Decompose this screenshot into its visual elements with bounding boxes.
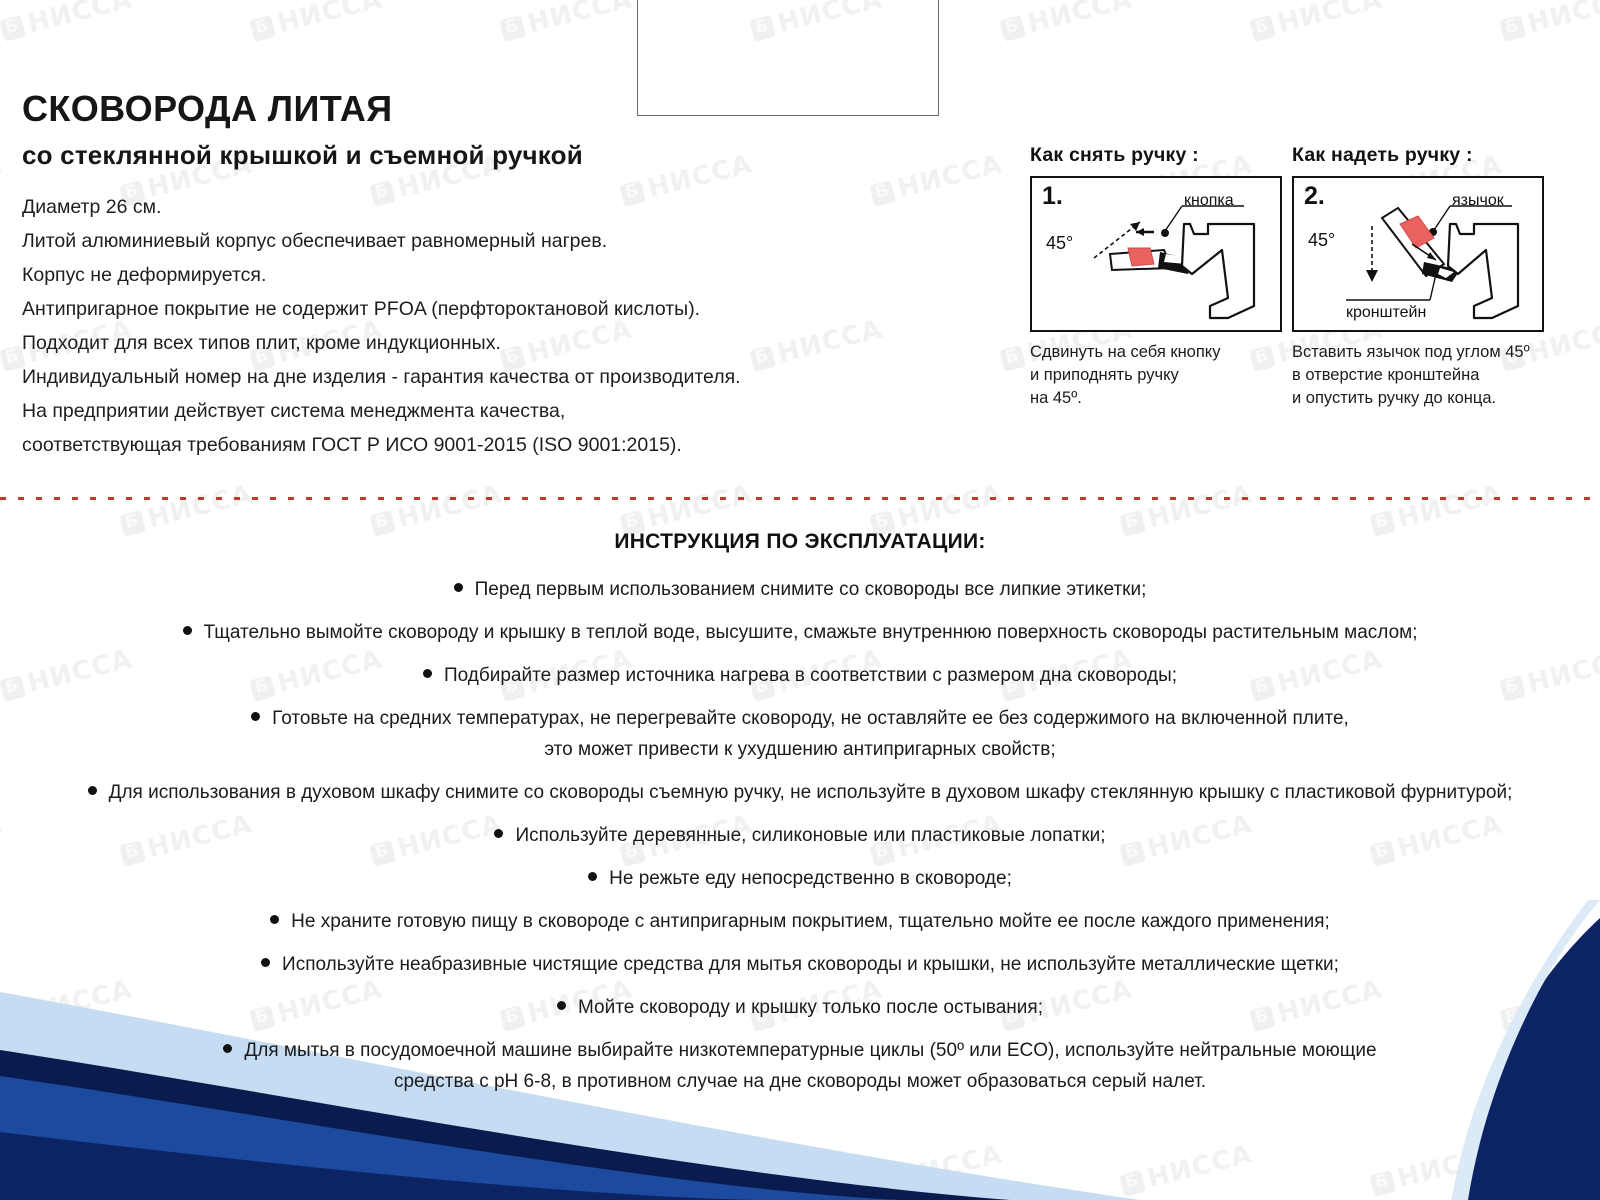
bullet-icon — [88, 786, 97, 795]
howto-remove-diagram: 1. 45° кнопка — [1030, 176, 1282, 332]
feature-line: Антипригарное покрытие не содержит PFOA … — [22, 292, 1002, 326]
instruction-text: Перед первым использованием снимите со с… — [475, 579, 1147, 600]
caption-line: на 45º. — [1030, 387, 1278, 410]
bullet-icon — [494, 829, 503, 838]
instruction-text: Не храните готовую пищу в сковороде с ан… — [291, 911, 1330, 932]
caption-line: и приподнять ручку — [1030, 364, 1278, 387]
product-label-page: НИССАНИССАНИССАНИССАНИССАНИССАНИССАНИССА… — [0, 0, 1600, 1200]
remove-handle-illustration — [1032, 178, 1280, 330]
instruction-item: Используйте деревянные, силиконовые или … — [20, 820, 1580, 851]
instruction-text: Тщательно вымойте сковороду и крышку в т… — [204, 622, 1418, 643]
instruction-item: Перед первым использованием снимите со с… — [20, 574, 1580, 605]
instruction-text-continued: средства с pH 6-8, в противном случае на… — [20, 1066, 1580, 1097]
feature-line: Индивидуальный номер на дне изделия - га… — [22, 360, 1002, 394]
howto-attach-caption: Вставить язычок под углом 45º в отверсти… — [1292, 341, 1540, 410]
instruction-text: Готовьте на средних температурах, не пер… — [272, 708, 1349, 729]
instruction-item: Используйте неабразивные чистящие средст… — [20, 949, 1580, 980]
instruction-item: Мойте сковороду и крышку только после ос… — [20, 992, 1580, 1023]
instruction-item: Для мытья в посудомоечной машине выбирай… — [20, 1035, 1580, 1097]
instructions-title: ИНСТРУКЦИЯ ПО ЭКСПЛУАТАЦИИ: — [0, 530, 1600, 554]
instruction-text: Для использования в духовом шкафу снимит… — [109, 782, 1513, 803]
howto-attach-title: Как надеть ручку : — [1292, 144, 1540, 167]
cut-line-divider — [0, 497, 1600, 500]
instruction-item: Подбирайте размер источника нагрева в со… — [20, 660, 1580, 691]
caption-line: в отверстие кронштейна — [1292, 364, 1540, 387]
usage-instructions: ИНСТРУКЦИЯ ПО ЭКСПЛУАТАЦИИ: Перед первым… — [0, 530, 1600, 1109]
instruction-text: Мойте сковороду и крышку только после ос… — [578, 997, 1043, 1018]
feature-line: Корпус не деформируется. — [22, 258, 1002, 292]
instruction-item: Готовьте на средних температурах, не пер… — [20, 703, 1580, 765]
instruction-item: Для использования в духовом шкафу снимит… — [20, 777, 1580, 808]
caption-line: и опустить ручку до конца. — [1292, 387, 1540, 410]
howto-attach-handle: Как надеть ручку : 2. 45° язычок кронште… — [1292, 144, 1540, 410]
feature-list: Диаметр 26 см. Литой алюминиевый корпус … — [22, 190, 1002, 462]
bullet-icon — [588, 872, 597, 881]
instruction-item: Тщательно вымойте сковороду и крышку в т… — [20, 617, 1580, 648]
caption-line: Сдвинуть на себя кнопку — [1030, 341, 1278, 364]
bullet-icon — [557, 1001, 566, 1010]
instruction-item: Не храните готовую пищу в сковороде с ан… — [20, 906, 1580, 937]
caption-line: Вставить язычок под углом 45º — [1292, 341, 1540, 364]
instruction-text: Используйте неабразивные чистящие средст… — [282, 954, 1339, 975]
bullet-icon — [270, 915, 279, 924]
instruction-item: Не режьте еду непосредственно в сковород… — [20, 863, 1580, 894]
feature-line: Диаметр 26 см. — [22, 190, 1002, 224]
howto-remove-title: Как снять ручку : — [1030, 144, 1278, 167]
feature-line: Подходит для всех типов плит, кроме инду… — [22, 326, 1002, 360]
feature-line: На предприятии действует система менеджм… — [22, 394, 1002, 428]
bullet-icon — [454, 583, 463, 592]
instruction-text: Не режьте еду непосредственно в сковород… — [609, 868, 1012, 889]
feature-line: Литой алюминиевый корпус обеспечивает ра… — [22, 224, 1002, 258]
instruction-text: Для мытья в посудомоечной машине выбирай… — [244, 1040, 1376, 1061]
page-subtitle: со стеклянной крышкой и съемной ручкой — [22, 140, 583, 171]
handle-instructions: Как снять ручку : 1. 45° кнопка — [1030, 144, 1575, 410]
howto-remove-handle: Как снять ручку : 1. 45° кнопка — [1030, 144, 1278, 410]
instruction-text-continued: это может привести к ухудшению антиприга… — [20, 734, 1580, 765]
bullet-icon — [183, 626, 192, 635]
howto-attach-diagram: 2. 45° язычок кронштейн — [1292, 176, 1544, 332]
attach-handle-illustration — [1294, 178, 1542, 330]
feature-line: соответствующая требованиям ГОСТ Р ИСО 9… — [22, 428, 1002, 462]
page-title: СКОВОРОДА ЛИТАЯ — [22, 88, 393, 130]
instruction-text: Используйте деревянные, силиконовые или … — [515, 825, 1105, 846]
bullet-icon — [251, 712, 260, 721]
bullet-icon — [223, 1044, 232, 1053]
bullet-icon — [261, 958, 270, 967]
howto-remove-caption: Сдвинуть на себя кнопку и приподнять руч… — [1030, 341, 1278, 410]
instruction-text: Подбирайте размер источника нагрева в со… — [444, 665, 1177, 686]
bullet-icon — [423, 669, 432, 678]
